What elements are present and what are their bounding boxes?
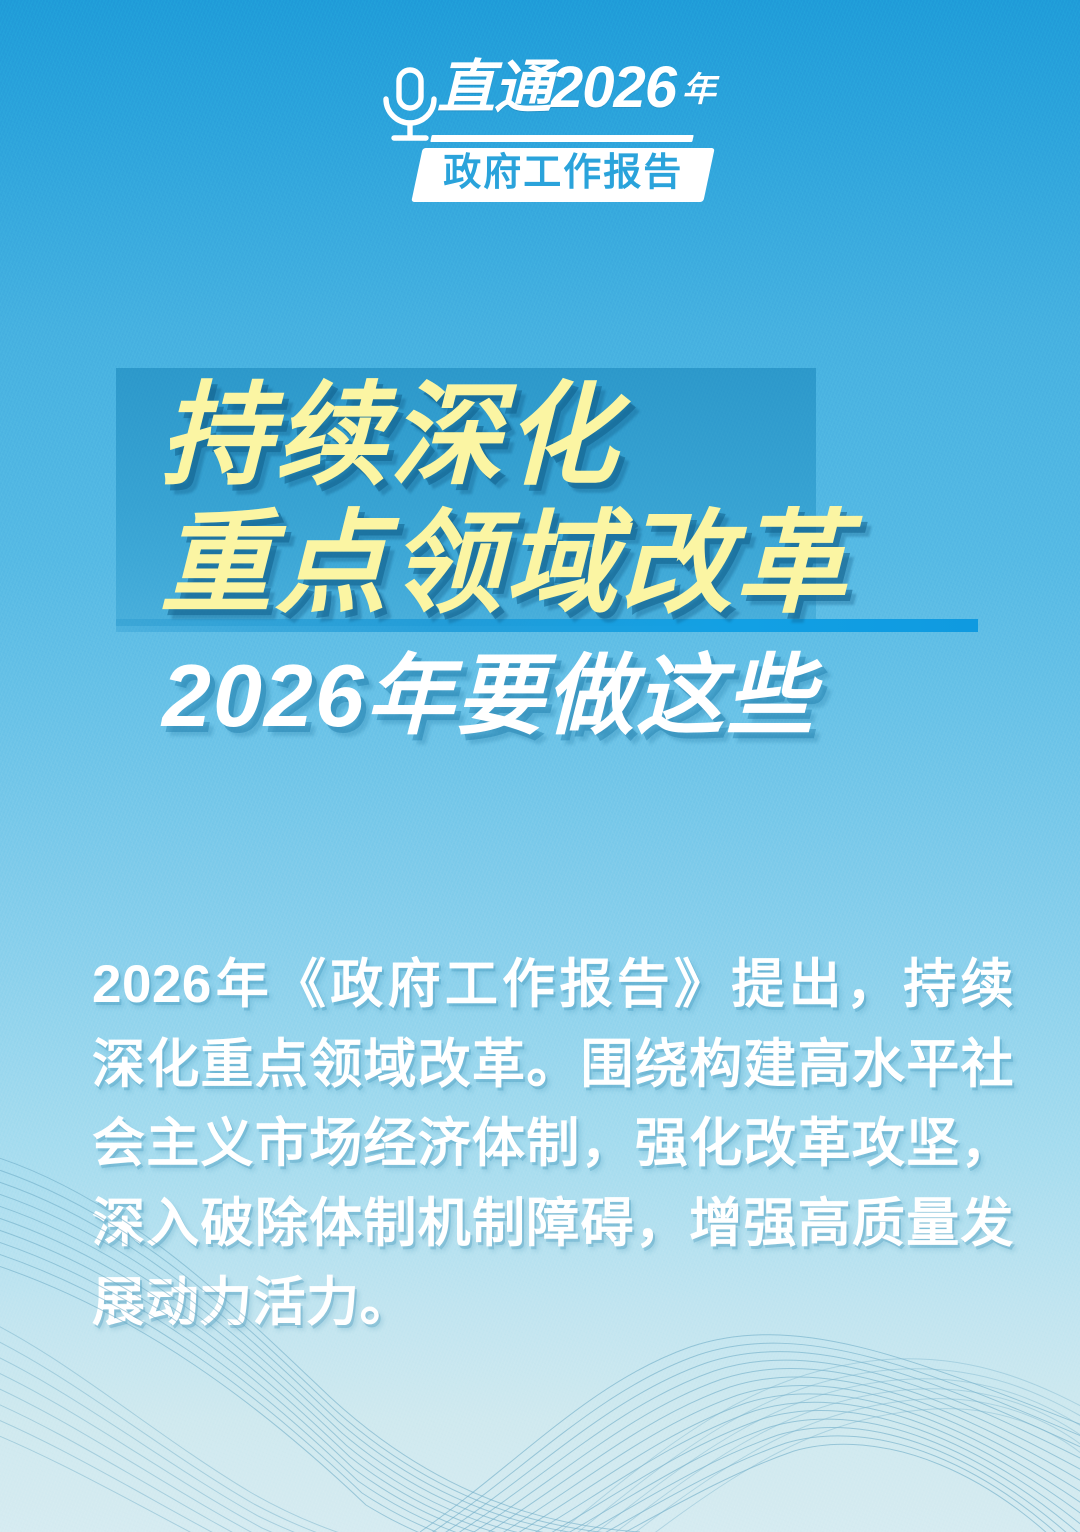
logo-title-suffix: 年 <box>682 71 715 109</box>
program-logo: 直通2026年 政府工作报告 <box>0 62 1080 202</box>
page-subtitle: 2026年要做这些 <box>0 648 1080 745</box>
logo-underline-rule <box>430 135 693 142</box>
report-badge-label: 政府工作报告 <box>443 154 683 194</box>
page-title: 持续深化 重点领域改革 <box>0 372 1080 627</box>
microphone-icon <box>379 66 441 144</box>
page-title-line-2: 重点领域改革 <box>160 500 1080 628</box>
body-paragraph: 2026年《政府工作报告》提出，持续深化重点领域改革。围绕构建高水平社会主义市场… <box>92 945 1014 1343</box>
report-badge: 政府工作报告 <box>411 148 714 202</box>
logo-title-main: 直通2026 <box>437 55 676 120</box>
poster-canvas: 直通2026年 政府工作报告 持续深化 重点领域改革 2026年要做这些 202… <box>0 0 1080 1532</box>
logo-title: 直通2026年 <box>437 59 715 117</box>
page-title-line-1: 持续深化 <box>160 372 1080 500</box>
